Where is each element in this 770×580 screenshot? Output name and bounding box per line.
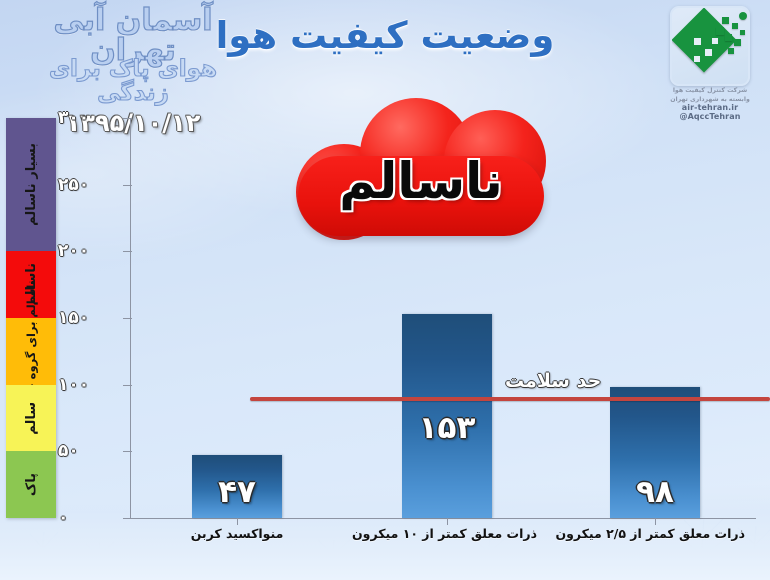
legend-band-4: پاک <box>6 451 56 518</box>
y-tick <box>123 118 132 119</box>
x-tick <box>237 518 238 525</box>
legend-band-2: ناسالم برای گروه حساس <box>6 318 56 385</box>
y-tick-label: ۰ <box>58 508 118 528</box>
y-tick <box>123 251 132 252</box>
organization-logo: شرکت کنترل کیفیت هوا وابسته به شهرداری ت… <box>654 6 766 121</box>
y-tick <box>123 185 132 186</box>
legend-band-3: سالم <box>6 385 56 452</box>
legend-band-0: بسیار ناسالم <box>6 118 56 251</box>
bar: ۱۵۳ <box>402 314 492 518</box>
x-category-label: ذرات معلق کمتر از ۲/۵ میکرون <box>565 526 745 541</box>
legend-band-label: سالم <box>24 402 39 435</box>
y-tick-label: ۱۰۰ <box>58 375 118 395</box>
bar-value-label: ۴۷ <box>192 474 282 510</box>
bar: ۹۸ <box>610 387 700 518</box>
dissolving-square-icon <box>670 6 750 86</box>
y-tick-label: ۳۰۰ <box>58 108 118 128</box>
health-limit-line <box>250 397 770 401</box>
x-axis <box>130 518 756 519</box>
health-limit-label: حد سلامت <box>505 370 601 392</box>
y-tick-label: ۵۰ <box>58 441 118 461</box>
y-tick <box>123 518 132 519</box>
bar-value-label: ۹۸ <box>610 474 700 510</box>
infographic-canvas: آسمان آبی تهران هوای پاک برای زندگی ۱۳۹۵… <box>0 0 770 580</box>
status-badge: ناسالم <box>292 148 550 214</box>
x-tick <box>655 518 656 525</box>
legend-band-label: بسیار ناسالم <box>24 143 39 226</box>
y-tick <box>123 385 132 386</box>
y-tick-label: ۲۵۰ <box>58 175 118 195</box>
legend-band-label: پاک <box>24 473 39 496</box>
y-tick <box>123 451 132 452</box>
y-tick-label: ۱۵۰ <box>58 308 118 328</box>
aqi-legend: بسیار ناسالمناسالمناسالم برای گروه حساسس… <box>6 118 56 518</box>
x-category-label: منواکسید کربن <box>147 526 327 541</box>
bar-value-label: ۱۵۳ <box>402 410 492 446</box>
x-category-label: ذرات معلق کمتر از ۱۰ میکرون <box>357 526 537 541</box>
y-tick-label: ۲۰۰ <box>58 241 118 261</box>
campaign-logo-line2: هوای پاک برای زندگی <box>18 57 248 105</box>
y-tick <box>123 318 132 319</box>
x-tick <box>447 518 448 525</box>
bar: ۴۷ <box>192 455 282 518</box>
org-name: شرکت کنترل کیفیت هوا <box>654 87 766 96</box>
